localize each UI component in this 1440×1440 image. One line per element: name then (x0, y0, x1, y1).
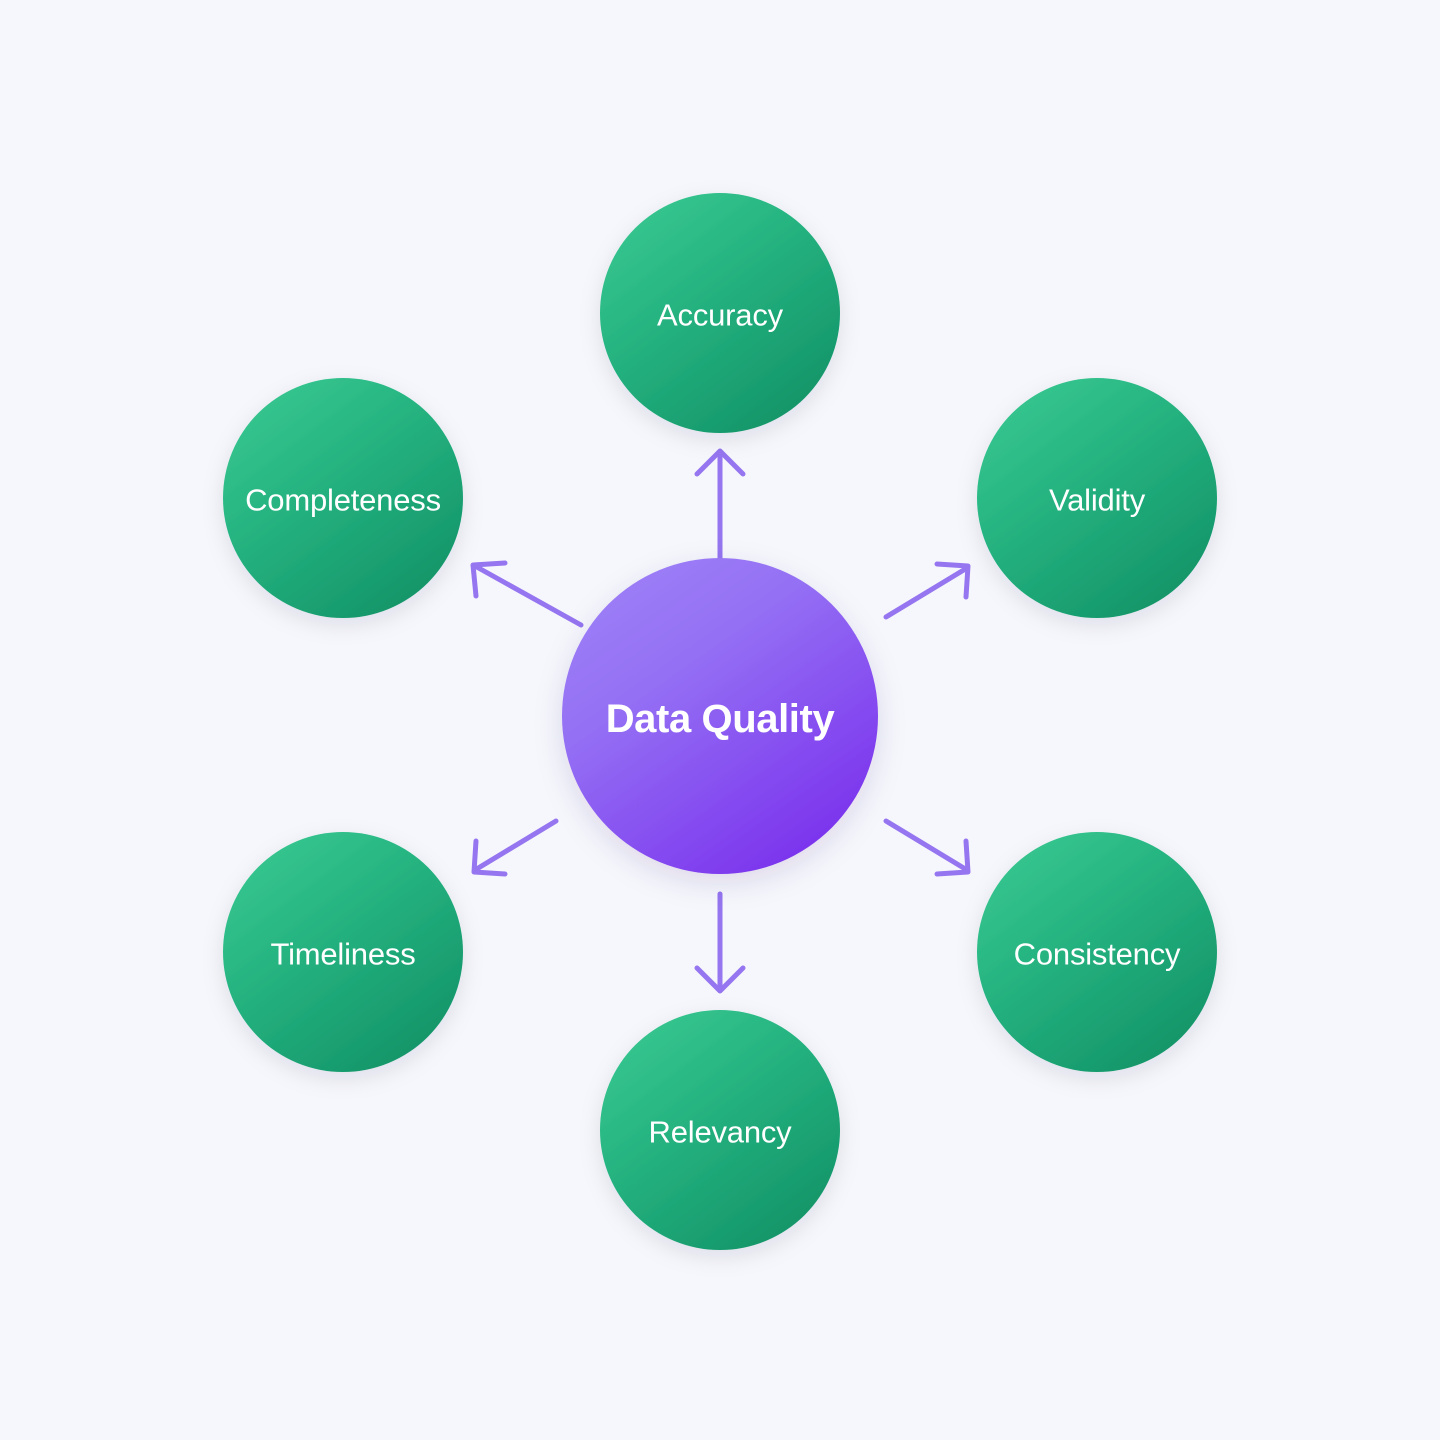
node-accuracy[interactable]: Accuracy (600, 193, 840, 433)
node-label-accuracy: Accuracy (657, 298, 784, 333)
node-label-completeness: Completeness (245, 483, 441, 518)
node-label-consistency: Consistency (1014, 937, 1181, 972)
node-timeliness[interactable]: Timeliness (223, 832, 463, 1072)
node-hub-data-quality[interactable]: Data Quality (562, 558, 878, 874)
hub-label: Data Quality (606, 697, 836, 741)
node-completeness[interactable]: Completeness (223, 378, 463, 618)
node-label-timeliness: Timeliness (271, 937, 416, 972)
data-quality-diagram: Accuracy Validity Consistency Relevancy … (0, 0, 1440, 1440)
node-consistency[interactable]: Consistency (977, 832, 1217, 1072)
node-label-validity: Validity (1049, 483, 1146, 518)
node-label-relevancy: Relevancy (649, 1115, 793, 1150)
node-validity[interactable]: Validity (977, 378, 1217, 618)
diagram-canvas: Accuracy Validity Consistency Relevancy … (0, 0, 1440, 1440)
node-relevancy[interactable]: Relevancy (600, 1010, 840, 1250)
